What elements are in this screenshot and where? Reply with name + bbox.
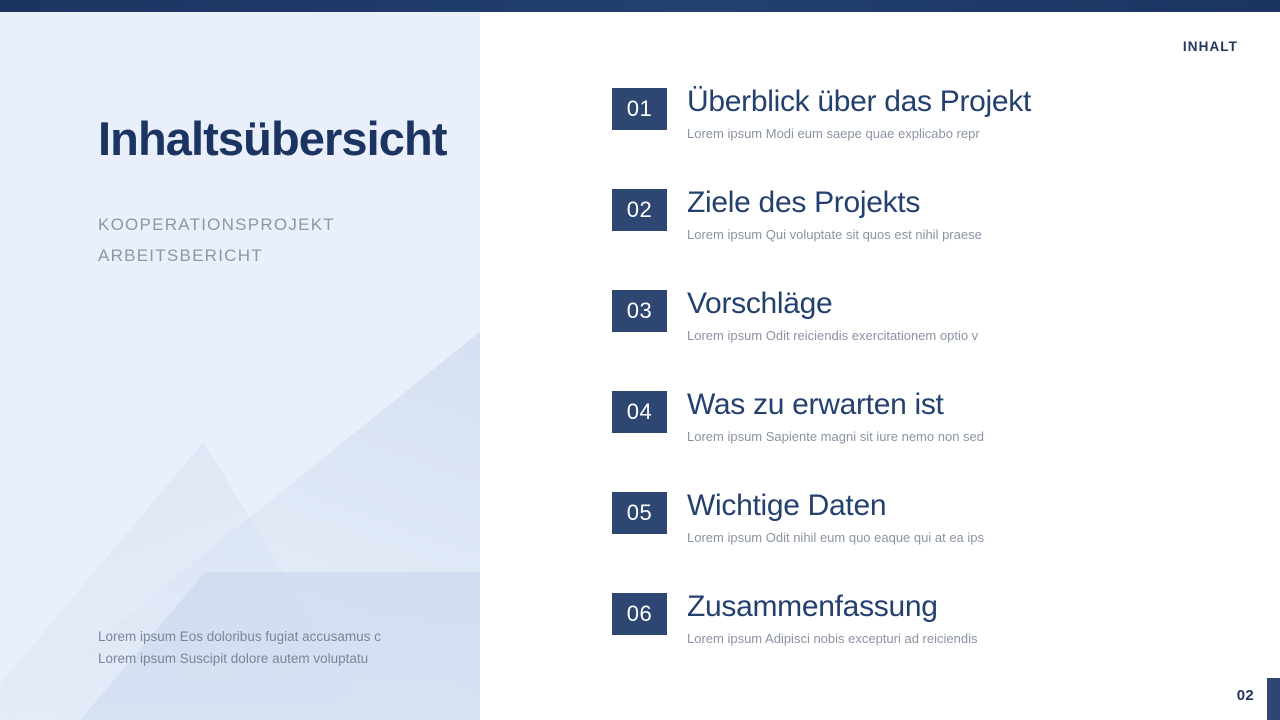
toc-heading: Was zu erwarten ist [687,385,984,425]
toc-text-group: Wichtige Daten Lorem ipsum Odit nihil eu… [687,486,984,547]
toc-number-badge: 06 [612,593,667,635]
toc-number-badge: 02 [612,189,667,231]
toc-number-badge: 03 [612,290,667,332]
footer-line-2: Lorem ipsum Suscipit dolore autem volupt… [98,648,381,670]
toc-text-group: Was zu erwarten ist Lorem ipsum Sapiente… [687,385,984,446]
decorative-triangle-left [0,442,380,720]
section-label: INHALT [1183,39,1238,54]
toc-number-badge: 05 [612,492,667,534]
toc-item-03[interactable]: 03 Vorschläge Lorem ipsum Odit reiciendi… [612,290,1232,391]
subtitle-line-2: ARBEITSBERICHT [98,240,335,271]
page-number: 02 [1237,687,1254,704]
toc-heading: Vorschläge [687,284,978,324]
top-accent-bar [0,0,1280,12]
table-of-contents-list: 01 Überblick über das Projekt Lorem ipsu… [612,88,1232,694]
toc-heading: Ziele des Projekts [687,183,982,223]
toc-subtitle: Lorem ipsum Qui voluptate sit quos est n… [687,226,982,244]
toc-item-05[interactable]: 05 Wichtige Daten Lorem ipsum Odit nihil… [612,492,1232,593]
slide-canvas: Inhaltsübersicht KOOPERATIONSPROJEKT ARB… [0,0,1280,720]
toc-number-badge: 01 [612,88,667,130]
toc-heading: Wichtige Daten [687,486,984,526]
toc-text-group: Vorschläge Lorem ipsum Odit reiciendis e… [687,284,978,345]
subtitle-line-1: KOOPERATIONSPROJEKT [98,209,335,240]
subtitle-block: KOOPERATIONSPROJEKT ARBEITSBERICHT [98,209,335,271]
toc-subtitle: Lorem ipsum Odit reiciendis exercitation… [687,327,978,345]
toc-text-group: Überblick über das Projekt Lorem ipsum M… [687,82,1031,143]
toc-subtitle: Lorem ipsum Odit nihil eum quo eaque qui… [687,529,984,547]
toc-item-06[interactable]: 06 Zusammenfassung Lorem ipsum Adipisci … [612,593,1232,694]
toc-item-04[interactable]: 04 Was zu erwarten ist Lorem ipsum Sapie… [612,391,1232,492]
footer-line-1: Lorem ipsum Eos doloribus fugiat accusam… [98,626,381,648]
toc-item-02[interactable]: 02 Ziele des Projekts Lorem ipsum Qui vo… [612,189,1232,290]
page-title: Inhaltsübersicht [98,113,447,165]
footer-note: Lorem ipsum Eos doloribus fugiat accusam… [98,626,381,669]
toc-number-badge: 04 [612,391,667,433]
toc-heading: Überblick über das Projekt [687,82,1031,122]
toc-subtitle: Lorem ipsum Adipisci nobis excepturi ad … [687,630,977,648]
toc-subtitle: Lorem ipsum Modi eum saepe quae explicab… [687,125,1031,143]
toc-item-01[interactable]: 01 Überblick über das Projekt Lorem ipsu… [612,88,1232,189]
corner-accent-bar [1267,678,1280,720]
toc-text-group: Zusammenfassung Lorem ipsum Adipisci nob… [687,587,977,648]
toc-heading: Zusammenfassung [687,587,977,627]
toc-subtitle: Lorem ipsum Sapiente magni sit iure nemo… [687,428,984,446]
left-title-panel: Inhaltsübersicht KOOPERATIONSPROJEKT ARB… [0,12,480,720]
toc-text-group: Ziele des Projekts Lorem ipsum Qui volup… [687,183,982,244]
